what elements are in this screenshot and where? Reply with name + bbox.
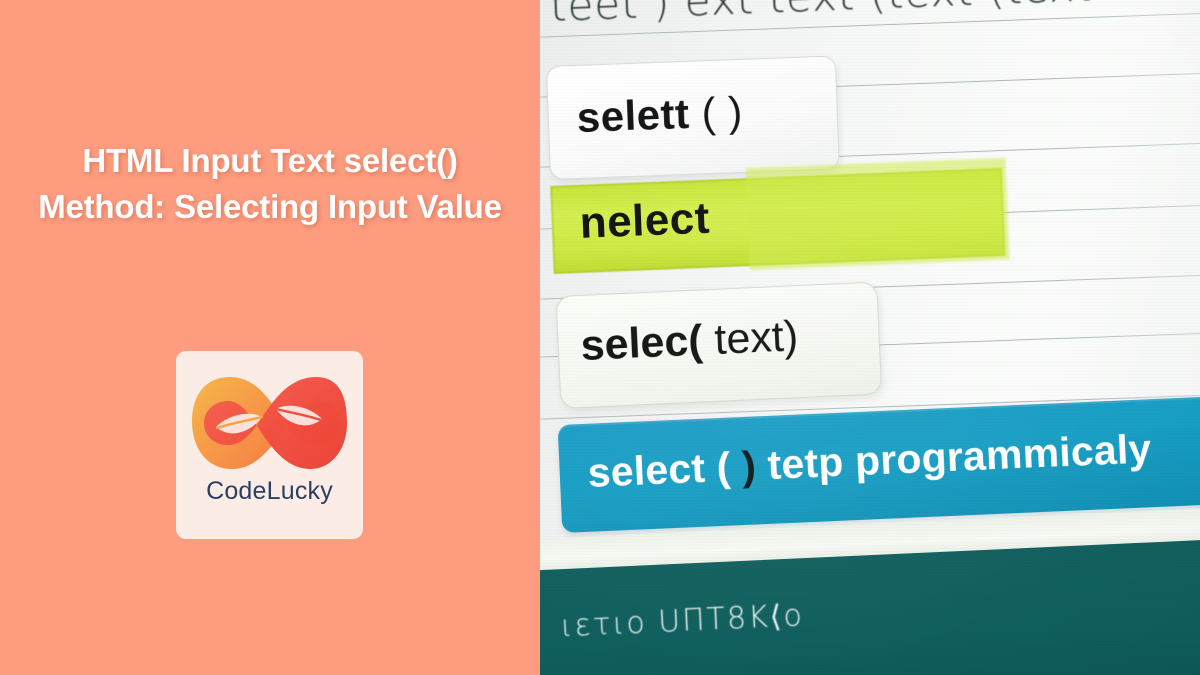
highlighted-selection-bar: nelect (550, 162, 1014, 280)
select-text-label: selec( text) (580, 312, 800, 371)
programmatic-select-paren-open: ( (704, 443, 743, 491)
programmatic-select-rest: tetp programmicaly (755, 425, 1152, 488)
screenshot-canvas: HTML Input Text select() Method: Selecti… (0, 0, 1200, 675)
programmatic-select-label: select ( ) tetp programmicaly (587, 425, 1153, 497)
infinity-leaf-icon (190, 371, 349, 475)
highlight-overlay (746, 158, 1010, 270)
select-empty-label-bold: selett (576, 90, 690, 141)
left-branding-panel: HTML Input Text select() Method: Selecti… (0, 0, 540, 675)
select-empty-label: selett ( ) (576, 88, 744, 142)
hero-photo-panel: teet ) ext text (text (text selett ( ) n… (540, 0, 1200, 675)
select-text-label-bold: selec( (580, 316, 704, 369)
select-empty-label-rest: ( ) (689, 88, 744, 137)
brand-logo-card: CodeLucky (176, 351, 363, 539)
brand-wordmark: CodeLucky (176, 477, 363, 506)
select-empty-card: selett ( ) (546, 55, 840, 180)
highlight-label: nelect (579, 194, 711, 249)
select-text-card: selec( text) (555, 281, 882, 408)
footer-garbled-text: ιετιο UΠT8Κ⟨ο (560, 598, 804, 644)
page-title: HTML Input Text select() Method: Selecti… (26, 138, 514, 230)
select-text-label-rest: text) (701, 312, 799, 364)
programmatic-select-bold: select (587, 445, 706, 496)
